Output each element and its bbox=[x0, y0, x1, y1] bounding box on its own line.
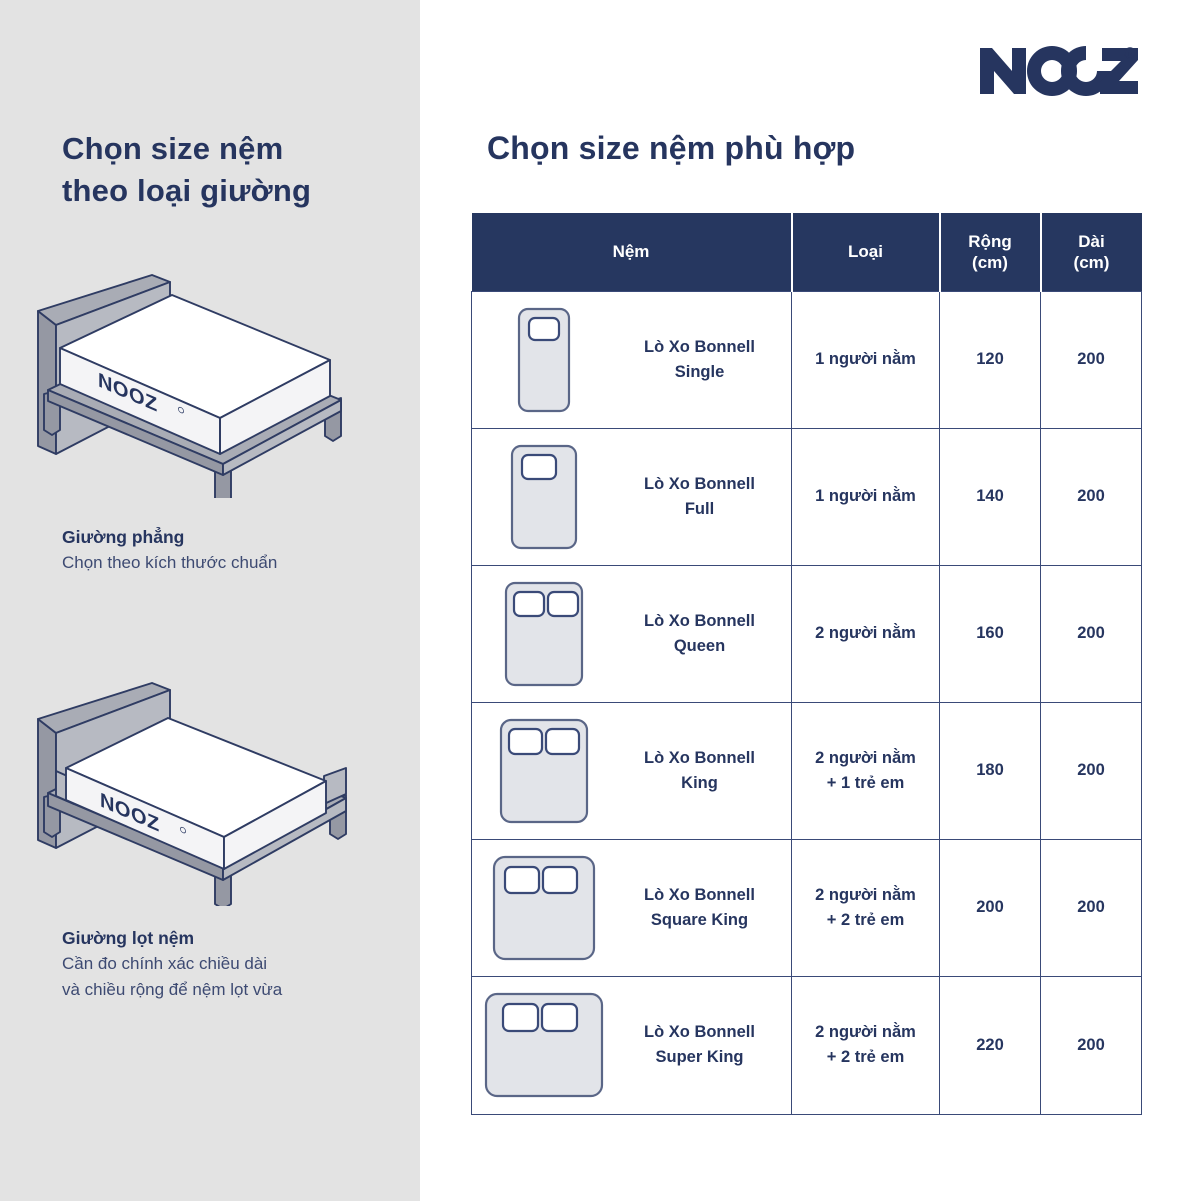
left-panel-title-line1: Chọn size nệm bbox=[62, 131, 283, 166]
cell-nem: Lò Xo Bonnell Square King bbox=[472, 839, 792, 976]
loai-line2: + 2 trẻ em bbox=[792, 908, 939, 933]
mattress-size-table: Nệm Loại Rộng (cm) Dài (cm) bbox=[471, 213, 1142, 1115]
cell-nem: Lò Xo Bonnell Single bbox=[472, 291, 792, 428]
table-row: Lò Xo Bonnell Super King 2 người nằm + 2… bbox=[472, 976, 1142, 1114]
inset-bed-caption-sub-line1: Cần đo chính xác chiều dài bbox=[62, 951, 407, 977]
inset-bed-caption-sub-line2: và chiều rộng để nệm lọt vừa bbox=[62, 977, 407, 1003]
cell-rong: 160 bbox=[940, 565, 1041, 702]
mattress-name-line1: Lò Xo Bonnell bbox=[615, 335, 785, 360]
cell-rong: 200 bbox=[940, 839, 1041, 976]
mattress-name: Lò Xo Bonnell Full bbox=[615, 472, 785, 522]
loai-line2: + 2 trẻ em bbox=[792, 1045, 939, 1070]
mattress-full-icon bbox=[479, 443, 609, 551]
mattress-name-line1: Lò Xo Bonnell bbox=[615, 1020, 785, 1045]
loai-line1: 1 người nằm bbox=[792, 347, 939, 372]
cell-loai: 1 người nằm bbox=[792, 291, 940, 428]
mattress-super-king-icon bbox=[479, 991, 609, 1099]
mattress-name: Lò Xo Bonnell Single bbox=[615, 335, 785, 385]
page-title: Chọn size nệm phù hợp bbox=[487, 130, 855, 167]
inset-bed-caption-sub: Cần đo chính xác chiều dài và chiều rộng… bbox=[62, 951, 407, 1002]
cell-rong: 120 bbox=[940, 291, 1041, 428]
cell-dai: 200 bbox=[1041, 839, 1142, 976]
cell-rong: 140 bbox=[940, 428, 1041, 565]
flat-bed-caption-sub: Chọn theo kích thước chuẩn bbox=[62, 550, 407, 576]
loai-line1: 2 người nằm bbox=[792, 746, 939, 771]
svg-text:R: R bbox=[1128, 51, 1133, 58]
flat-bed-block: NOOZ bbox=[0, 268, 420, 498]
cell-loai: 2 người nằm bbox=[792, 565, 940, 702]
cell-nem: Lò Xo Bonnell King bbox=[472, 702, 792, 839]
loai-line1: 2 người nằm bbox=[792, 621, 939, 646]
left-panel: Chọn size nệm theo loại giường bbox=[0, 0, 420, 1201]
cell-nem: Lò Xo Bonnell Full bbox=[472, 428, 792, 565]
cell-dai: 200 bbox=[1041, 428, 1142, 565]
cell-loai: 2 người nằm + 2 trẻ em bbox=[792, 839, 940, 976]
column-header-rong: Rộng (cm) bbox=[940, 213, 1041, 291]
flat-bed-caption: Giường phẳng Chọn theo kích thước chuẩn bbox=[62, 524, 407, 576]
mattress-name: Lò Xo Bonnell King bbox=[615, 746, 785, 796]
flat-bed-illustration: NOOZ bbox=[34, 268, 384, 498]
loai-line2: + 1 trẻ em bbox=[792, 771, 939, 796]
inset-bed-illustration: NOOZ bbox=[34, 676, 384, 906]
cell-dai: 200 bbox=[1041, 976, 1142, 1114]
inset-bed-block: NOOZ bbox=[0, 676, 420, 906]
loai-line1: 2 người nằm bbox=[792, 883, 939, 908]
column-header-rong-unit: (cm) bbox=[941, 252, 1040, 273]
table-header-row: Nệm Loại Rộng (cm) Dài (cm) bbox=[472, 213, 1142, 291]
cell-loai: 1 người nằm bbox=[792, 428, 940, 565]
left-panel-title: Chọn size nệm theo loại giường bbox=[62, 128, 402, 212]
mattress-name-line1: Lò Xo Bonnell bbox=[615, 472, 785, 497]
column-header-dai-line1: Dài bbox=[1042, 231, 1142, 252]
mattress-king-icon bbox=[479, 717, 609, 825]
cell-dai: 200 bbox=[1041, 291, 1142, 428]
cell-dai: 200 bbox=[1041, 565, 1142, 702]
cell-nem: Lò Xo Bonnell Queen bbox=[472, 565, 792, 702]
inset-bed-caption-title: Giường lọt nệm bbox=[62, 925, 407, 951]
nooz-logo-mark: R bbox=[978, 44, 1138, 100]
table-row: Lò Xo Bonnell Single 1 người nằm 120 200 bbox=[472, 291, 1142, 428]
mattress-name-line1: Lò Xo Bonnell bbox=[615, 746, 785, 771]
loai-line1: 2 người nằm bbox=[792, 1020, 939, 1045]
mattress-name: Lò Xo Bonnell Queen bbox=[615, 609, 785, 659]
mattress-name-line2: Queen bbox=[615, 634, 785, 659]
flat-bed-caption-title: Giường phẳng bbox=[62, 524, 407, 550]
mattress-name-line2: Single bbox=[615, 360, 785, 385]
loai-line1: 1 người nằm bbox=[792, 484, 939, 509]
mattress-single-icon bbox=[479, 306, 609, 414]
mattress-name-line1: Lò Xo Bonnell bbox=[615, 609, 785, 634]
mattress-name-line2: Square King bbox=[615, 908, 785, 933]
mattress-name-line2: Super King bbox=[615, 1045, 785, 1070]
inset-bed-caption: Giường lọt nệm Cần đo chính xác chiều dà… bbox=[62, 925, 407, 1002]
cell-rong: 220 bbox=[940, 976, 1041, 1114]
table-row: Lò Xo Bonnell King 2 người nằm + 1 trẻ e… bbox=[472, 702, 1142, 839]
column-header-loai: Loại bbox=[792, 213, 940, 291]
column-header-dai: Dài (cm) bbox=[1041, 213, 1142, 291]
table-row: Lò Xo Bonnell Square King 2 người nằm + … bbox=[472, 839, 1142, 976]
column-header-dai-unit: (cm) bbox=[1042, 252, 1142, 273]
table-row: Lò Xo Bonnell Queen 2 người nằm 160 200 bbox=[472, 565, 1142, 702]
mattress-name-line2: King bbox=[615, 771, 785, 796]
mattress-name-line2: Full bbox=[615, 497, 785, 522]
column-header-nem: Nệm bbox=[472, 213, 792, 291]
cell-dai: 200 bbox=[1041, 702, 1142, 839]
nooz-logo: R bbox=[978, 44, 1138, 105]
cell-loai: 2 người nằm + 1 trẻ em bbox=[792, 702, 940, 839]
mattress-queen-icon bbox=[479, 580, 609, 688]
table-body: Lò Xo Bonnell Single 1 người nằm 120 200 bbox=[472, 291, 1142, 1114]
page-root: Chọn size nệm theo loại giường bbox=[0, 0, 1200, 1201]
mattress-name: Lò Xo Bonnell Square King bbox=[615, 883, 785, 933]
cell-nem: Lò Xo Bonnell Super King bbox=[472, 976, 792, 1114]
left-panel-title-line2: theo loại giường bbox=[62, 170, 402, 212]
column-header-rong-line1: Rộng bbox=[941, 231, 1040, 252]
table-row: Lò Xo Bonnell Full 1 người nằm 140 200 bbox=[472, 428, 1142, 565]
cell-loai: 2 người nằm + 2 trẻ em bbox=[792, 976, 940, 1114]
mattress-name-line1: Lò Xo Bonnell bbox=[615, 883, 785, 908]
flat-bed-caption-sub-line1: Chọn theo kích thước chuẩn bbox=[62, 550, 407, 576]
mattress-name: Lò Xo Bonnell Super King bbox=[615, 1020, 785, 1070]
cell-rong: 180 bbox=[940, 702, 1041, 839]
table-header: Nệm Loại Rộng (cm) Dài (cm) bbox=[472, 213, 1142, 291]
mattress-square-king-icon bbox=[479, 854, 609, 962]
